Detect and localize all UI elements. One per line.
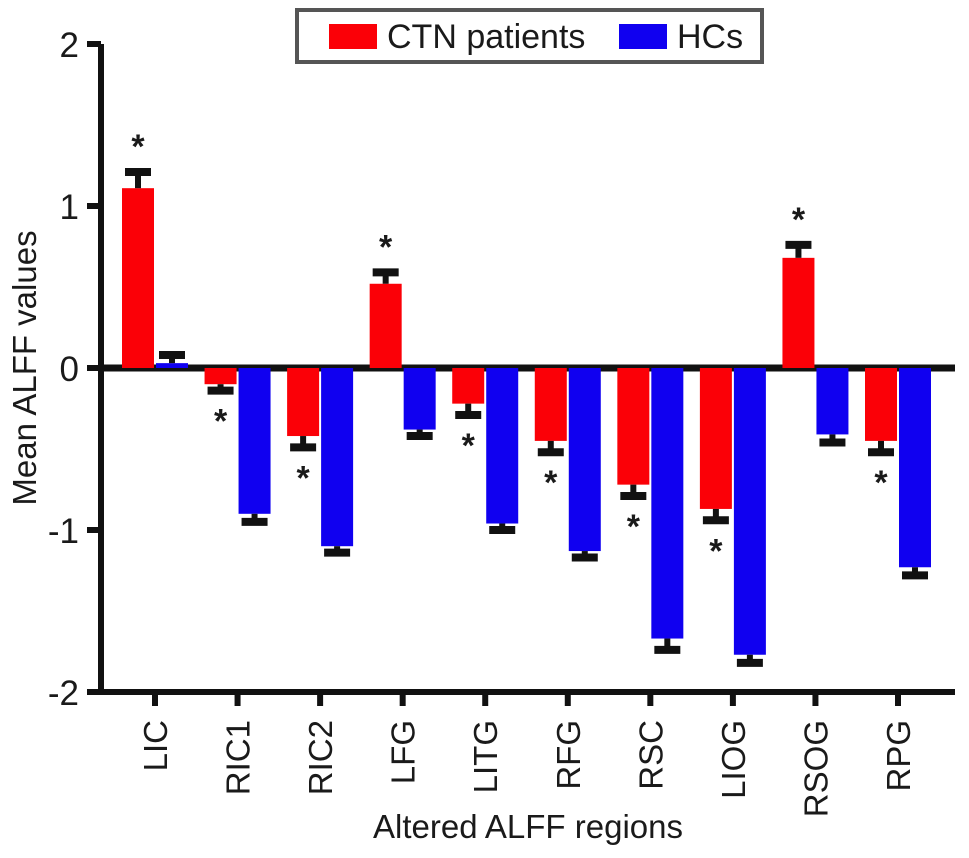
significance-star-LIC: * (131, 128, 145, 166)
significance-star-RIC1: * (214, 403, 228, 441)
x-tick-label-RIC2: RIC2 (302, 720, 339, 795)
legend-label-ctn-patients: CTN patients (387, 18, 585, 56)
x-tick-label-RFG: RFG (550, 720, 587, 790)
legend-swatch-hcs[interactable] (619, 24, 667, 49)
bar-LFG-ctn (370, 284, 402, 368)
significance-star-RSOG: * (792, 201, 806, 239)
significance-star-LIOG: * (709, 532, 723, 570)
x-tick-label-LFG: LFG (385, 720, 422, 784)
y-tick-label-1: 1 (60, 188, 79, 227)
bar-RIC2-ctn (287, 368, 319, 436)
x-tick-label-LIOG: LIOG (715, 720, 752, 799)
x-tick-label-RSC: RSC (632, 720, 669, 790)
bar-RSOG-hc (816, 368, 848, 434)
y-tick-label-2: 2 (60, 26, 79, 65)
x-tick-label-RPG: RPG (880, 720, 917, 792)
bar-RPG-hc (899, 368, 931, 567)
bar-RPG-ctn (865, 368, 897, 441)
bar-LIC-hc (156, 363, 188, 368)
significance-star-RFG: * (544, 464, 558, 502)
x-tick-label-LITG: LITG (467, 720, 504, 793)
significance-star-LFG: * (379, 228, 393, 266)
bar-RSC-hc (651, 368, 683, 639)
significance-star-RSC: * (627, 508, 641, 546)
significance-star-RIC2: * (296, 459, 310, 497)
bar-LFG-hc (404, 368, 436, 430)
significance-star-LITG: * (462, 427, 476, 465)
bar-RFG-hc (569, 368, 601, 551)
bar-LIOG-ctn (700, 368, 732, 509)
bar-LIOG-hc (734, 368, 766, 655)
bar-RIC1-hc (239, 368, 271, 514)
x-axis-title: Altered ALFF regions (373, 808, 683, 845)
y-axis-title: Mean ALFF values (6, 230, 43, 505)
bar-RIC1-ctn (205, 368, 237, 384)
x-tick-label-LIC: LIC (137, 720, 174, 771)
chart-canvas: 210-1-2Mean ALFF valuesLIC*RIC1*RIC2*LFG… (0, 0, 969, 858)
x-tick-label-RSOG: RSOG (797, 720, 834, 817)
significance-star-RPG: * (874, 464, 888, 502)
y-tick-label-0: 0 (60, 350, 79, 389)
legend-label-hcs: HCs (677, 18, 743, 56)
bar-RSC-ctn (617, 368, 649, 485)
bar-LITG-ctn (452, 368, 484, 404)
y-tick-label--2: -2 (48, 674, 79, 713)
y-tick-label--1: -1 (48, 512, 79, 551)
bar-RIC2-hc (321, 368, 353, 546)
alff-bar-chart: 210-1-2Mean ALFF valuesLIC*RIC1*RIC2*LFG… (0, 0, 969, 858)
bar-LIC-ctn (122, 188, 154, 368)
legend-swatch-ctn-patients[interactable] (329, 24, 377, 49)
bar-RSOG-ctn (782, 258, 814, 368)
bar-RFG-ctn (535, 368, 567, 441)
bar-LITG-hc (486, 368, 518, 524)
x-tick-label-RIC1: RIC1 (220, 720, 257, 795)
